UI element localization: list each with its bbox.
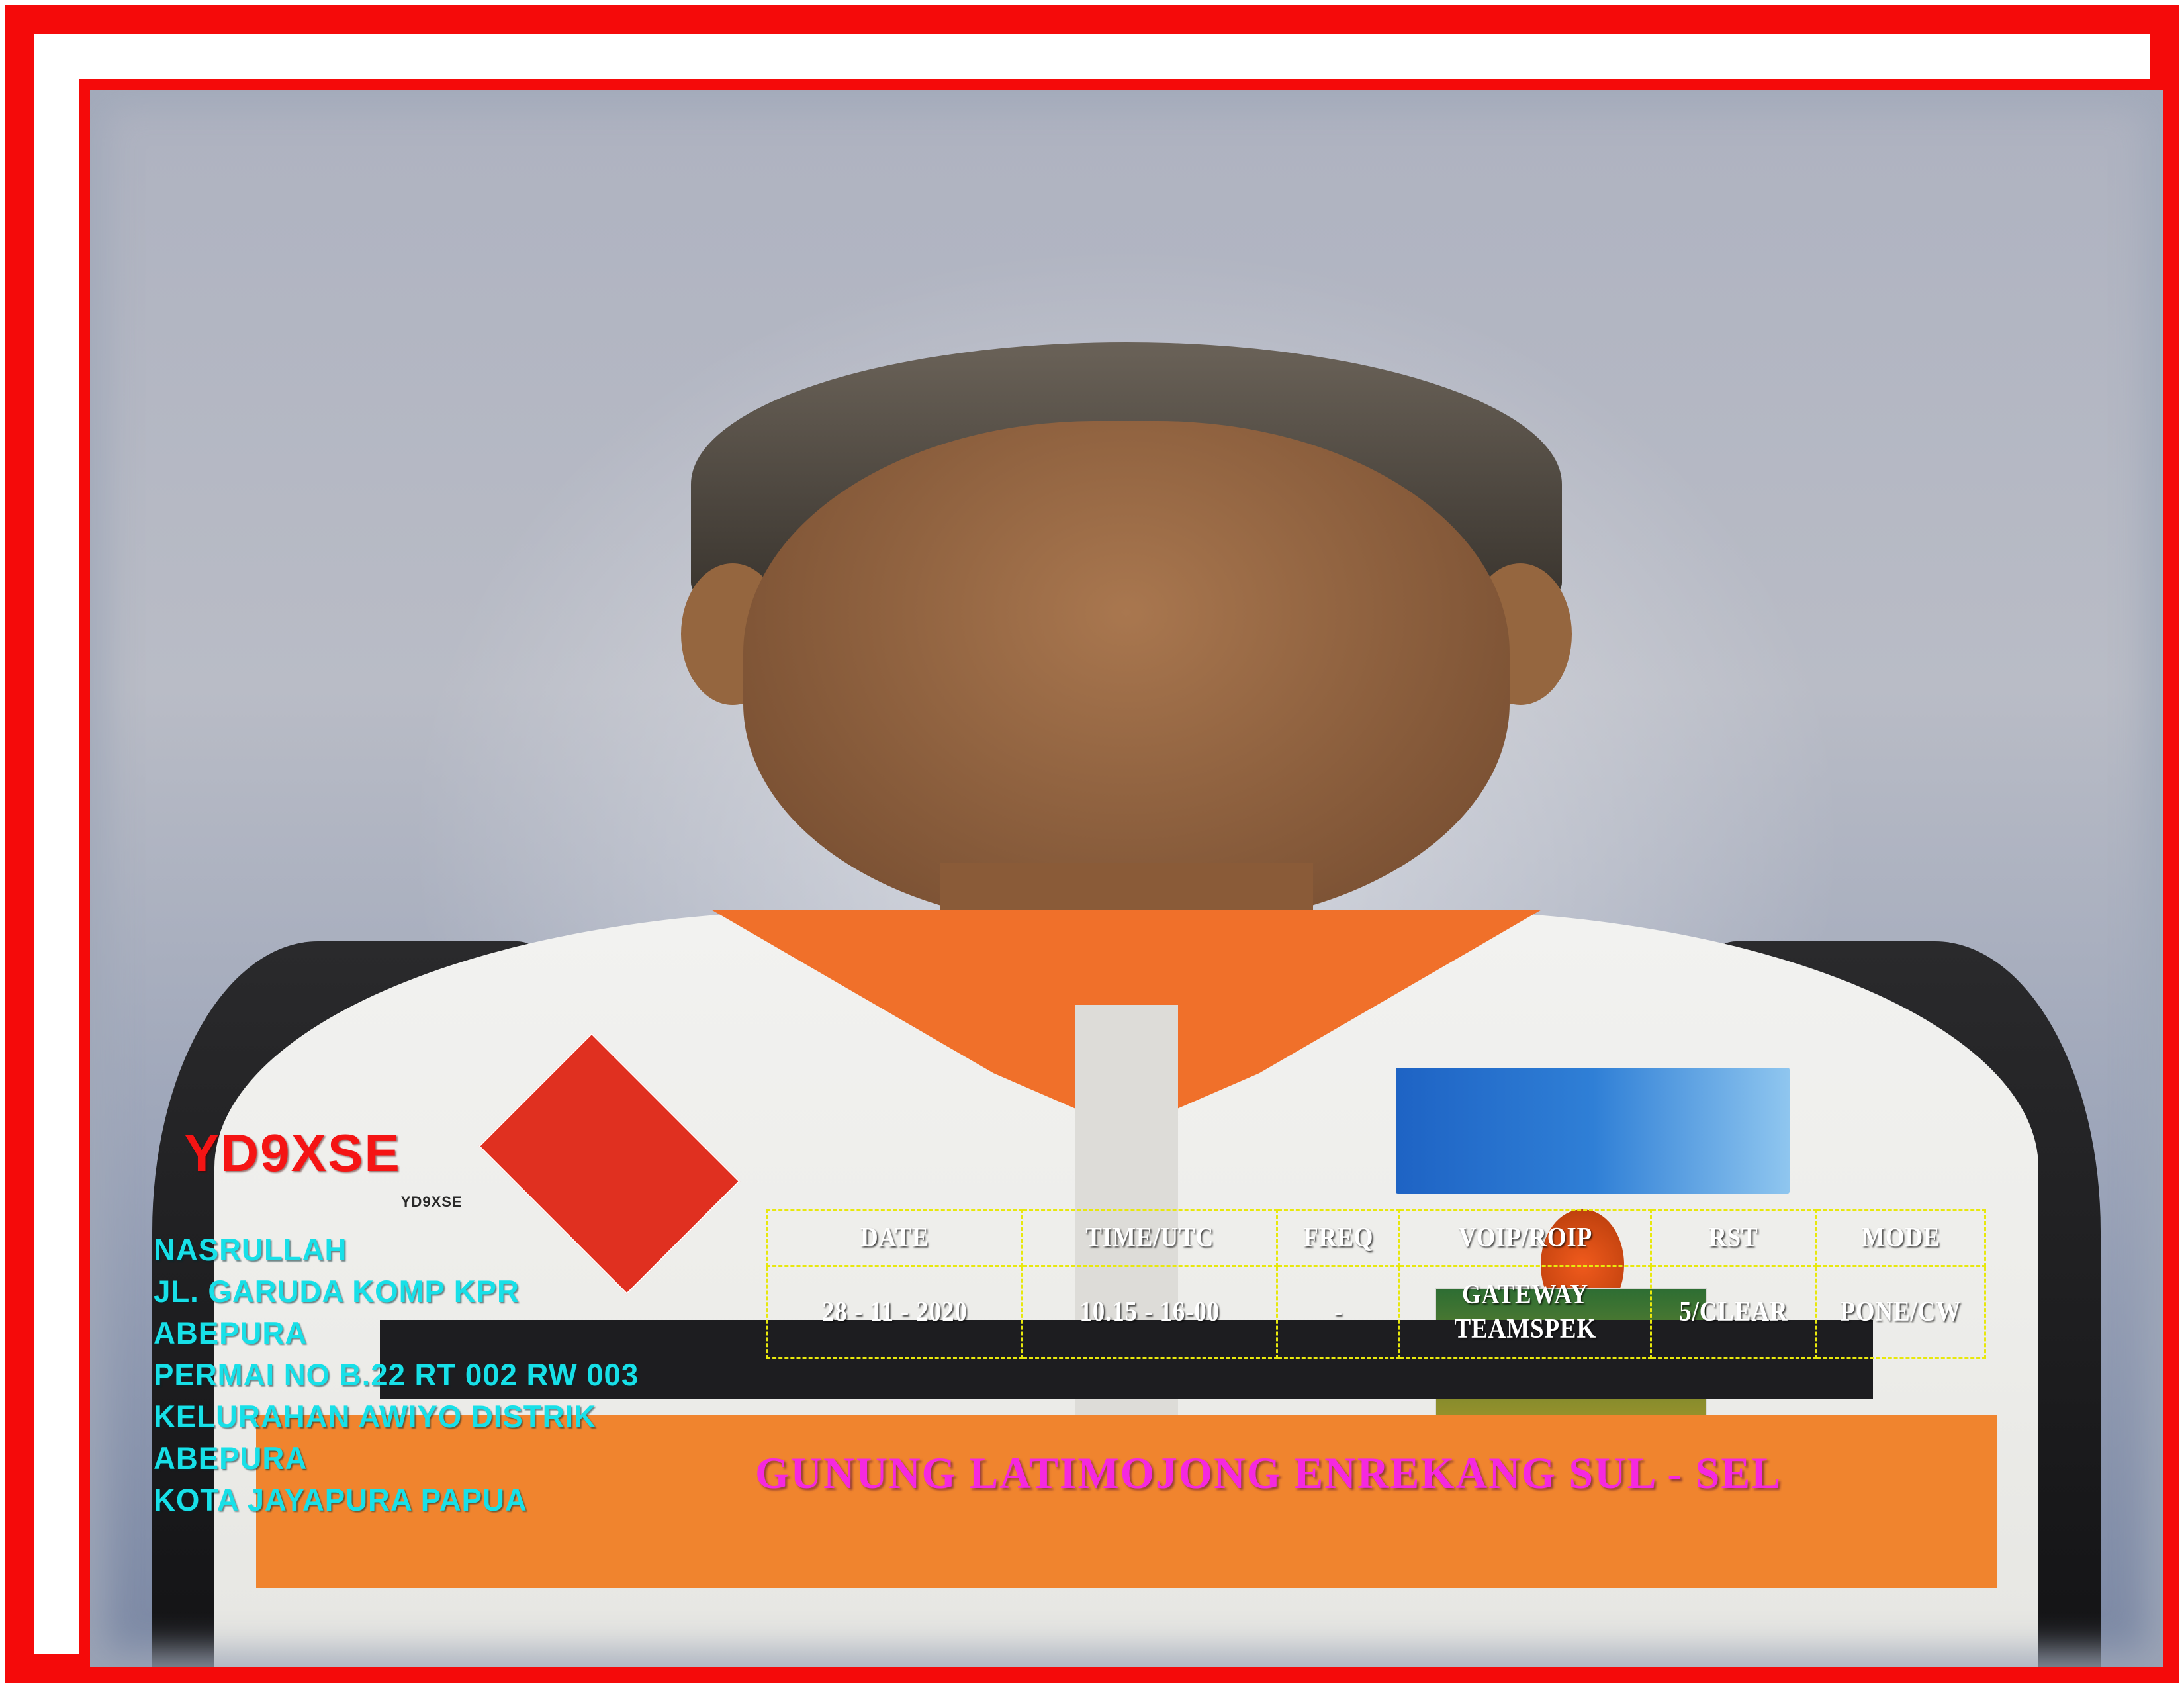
cell-text: - <box>1334 1295 1342 1329</box>
cell-text: PONE/CW <box>1841 1295 1962 1329</box>
cell-text: 5/CLEAR <box>1679 1295 1788 1329</box>
address-line: NASRULLAH <box>154 1229 639 1270</box>
header-text: MODE <box>1862 1211 1940 1265</box>
table-header-row: DATE TIME/UTC FREQ VOIP/ROIP RST MODE <box>768 1210 1985 1266</box>
column-header-freq: FREQ <box>1277 1210 1400 1266</box>
column-header-date: DATE <box>768 1210 1023 1266</box>
cell-rst: 5/CLEAR <box>1651 1266 1817 1358</box>
cell-text: 10.15 - 16-00 <box>1079 1295 1220 1329</box>
address-line: KELURAHAN AWIYO DISTRIK <box>154 1395 639 1437</box>
ncs-operator-photo: YD9XSE <box>90 90 363 368</box>
qso-log-table: DATE TIME/UTC FREQ VOIP/ROIP RST MODE 28… <box>766 1209 1986 1359</box>
column-header-voip: VOIP/ROIP <box>1400 1210 1651 1266</box>
cell-freq: - <box>1277 1266 1400 1358</box>
header-text: FREQ <box>1303 1211 1373 1265</box>
header-text: RST <box>1709 1211 1758 1265</box>
address-line: KOTA JAYAPURA PAPUA <box>154 1479 639 1521</box>
slogan-text: "AMATIR RADIO ADALAH PROGRESIVE" <box>169 1662 1103 1677</box>
location-caption: GUNUNG LATIMOJONG ENREKANG SUL - SEL <box>755 1447 1782 1499</box>
address-line: JL. GARUDA KOMP KPR <box>154 1270 639 1312</box>
header-text: VOIP/ROIP <box>1458 1211 1592 1265</box>
cell-text: 28 - 11 - 2020 <box>822 1295 968 1329</box>
card-outer-border: ORARI <box>5 5 2179 1683</box>
header-text: TIME/UTC <box>1085 1211 1214 1265</box>
cell-mode: PONE/CW <box>1817 1266 1985 1358</box>
ncs-callsign: YD9XSE <box>184 1123 401 1184</box>
column-header-rst: RST <box>1651 1210 1817 1266</box>
header-text: DATE <box>860 1211 929 1265</box>
cell-date: 28 - 11 - 2020 <box>768 1266 1023 1358</box>
address-line: ABEPURA <box>154 1437 639 1479</box>
column-header-time: TIME/UTC <box>1023 1210 1277 1266</box>
column-header-mode: MODE <box>1817 1210 1985 1266</box>
qsl-card: ORARI <box>0 0 2184 1688</box>
mailing-address-block: NASRULLAH JL. GARUDA KOMP KPR ABEPURA PE… <box>154 1229 654 1521</box>
cell-voip: GATEWAY TEAMSPEK <box>1400 1266 1651 1358</box>
address-line: ABEPURA <box>154 1312 639 1354</box>
cell-text: GATEWAY <box>1462 1278 1588 1312</box>
cell-time: 10.15 - 16-00 <box>1023 1266 1277 1358</box>
cell-text: TEAMSPEK <box>1454 1312 1596 1346</box>
web-address-text: Address : amatir.latimojong.com <box>1351 1662 2004 1677</box>
table-row: 28 - 11 - 2020 10.15 - 16-00 - GATEWAY T… <box>768 1266 1985 1358</box>
photo-edge-fade <box>90 90 363 368</box>
address-line: PERMAI NO B.22 RT 002 RW 003 <box>154 1354 639 1395</box>
card-inner-border: ORARI <box>79 79 2173 1677</box>
